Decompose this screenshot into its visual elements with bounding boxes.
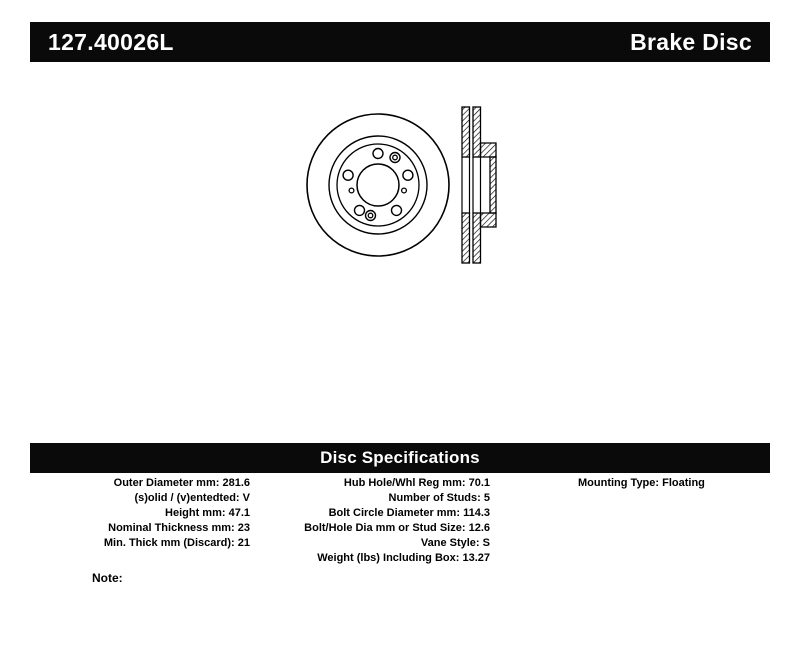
- spec-row: Weight (lbs) Including Box: 13.27: [258, 551, 490, 566]
- spec-label: (s)olid / (v)entedted:: [134, 492, 239, 504]
- spec-row: Mounting Type: Floating: [520, 476, 770, 491]
- spec-value: 13.27: [462, 552, 490, 564]
- spec-value: V: [243, 492, 250, 504]
- note-label: Note:: [92, 571, 123, 585]
- part-number-label: 127.40026L: [48, 29, 174, 56]
- spec-row: Outer Diameter mm: 281.6: [30, 476, 250, 491]
- spec-value: 47.1: [229, 507, 250, 519]
- spec-label: Bolt/Hole Dia mm or Stud Size:: [304, 522, 465, 534]
- spec-row: Hub Hole/Whl Reg mm: 70.1: [258, 476, 490, 491]
- spec-value: 114.3: [463, 507, 490, 519]
- spec-label: Hub Hole/Whl Reg mm:: [344, 477, 466, 489]
- spec-label: Mounting Type:: [578, 477, 659, 489]
- spec-value: Floating: [662, 477, 705, 489]
- spec-row: Number of Studs: 5: [258, 491, 490, 506]
- spec-label: Weight (lbs) Including Box:: [317, 552, 459, 564]
- brake-disc-cross-section-view: [462, 107, 496, 263]
- spec-label: Vane Style:: [421, 537, 480, 549]
- spec-column-right: Mounting Type: Floating: [520, 476, 770, 491]
- spec-value: 70.1: [469, 477, 490, 489]
- spec-label: Height mm:: [165, 507, 226, 519]
- spec-row: Min. Thick mm (Discard): 21: [30, 536, 250, 551]
- spec-row: (s)olid / (v)entedted: V: [30, 491, 250, 506]
- spec-row: Height mm: 47.1: [30, 506, 250, 521]
- disc-specifications-bar: Disc Specifications: [30, 443, 770, 473]
- spec-value: 281.6: [222, 477, 250, 489]
- specifications-table: Outer Diameter mm: 281.6 (s)olid / (v)en…: [30, 476, 770, 576]
- spec-value: 23: [238, 522, 250, 534]
- header-bar: 127.40026L Brake Disc: [30, 22, 770, 62]
- spec-label: Bolt Circle Diameter mm:: [329, 507, 460, 519]
- spec-label: Nominal Thickness mm:: [108, 522, 235, 534]
- spec-row: Bolt Circle Diameter mm: 114.3: [258, 506, 490, 521]
- spec-value: S: [483, 537, 490, 549]
- spec-label: Min. Thick mm (Discard):: [104, 537, 235, 549]
- spec-value: 5: [484, 492, 490, 504]
- spec-row: Bolt/Hole Dia mm or Stud Size: 12.6: [258, 521, 490, 536]
- product-type-label: Brake Disc: [630, 29, 752, 56]
- spec-label: Number of Studs:: [389, 492, 481, 504]
- spec-value: 12.6: [469, 522, 490, 534]
- brake-disc-face-view: [307, 114, 449, 256]
- spec-row: Nominal Thickness mm: 23: [30, 521, 250, 536]
- spec-row: Vane Style: S: [258, 536, 490, 551]
- spec-column-middle: Hub Hole/Whl Reg mm: 70.1 Number of Stud…: [258, 476, 490, 566]
- spec-value: 21: [238, 537, 250, 549]
- spec-column-left: Outer Diameter mm: 281.6 (s)olid / (v)en…: [30, 476, 250, 551]
- spec-label: Outer Diameter mm:: [114, 477, 220, 489]
- disc-specifications-title: Disc Specifications: [320, 448, 480, 468]
- note-block: Note:: [92, 571, 123, 585]
- product-drawing: [290, 95, 520, 280]
